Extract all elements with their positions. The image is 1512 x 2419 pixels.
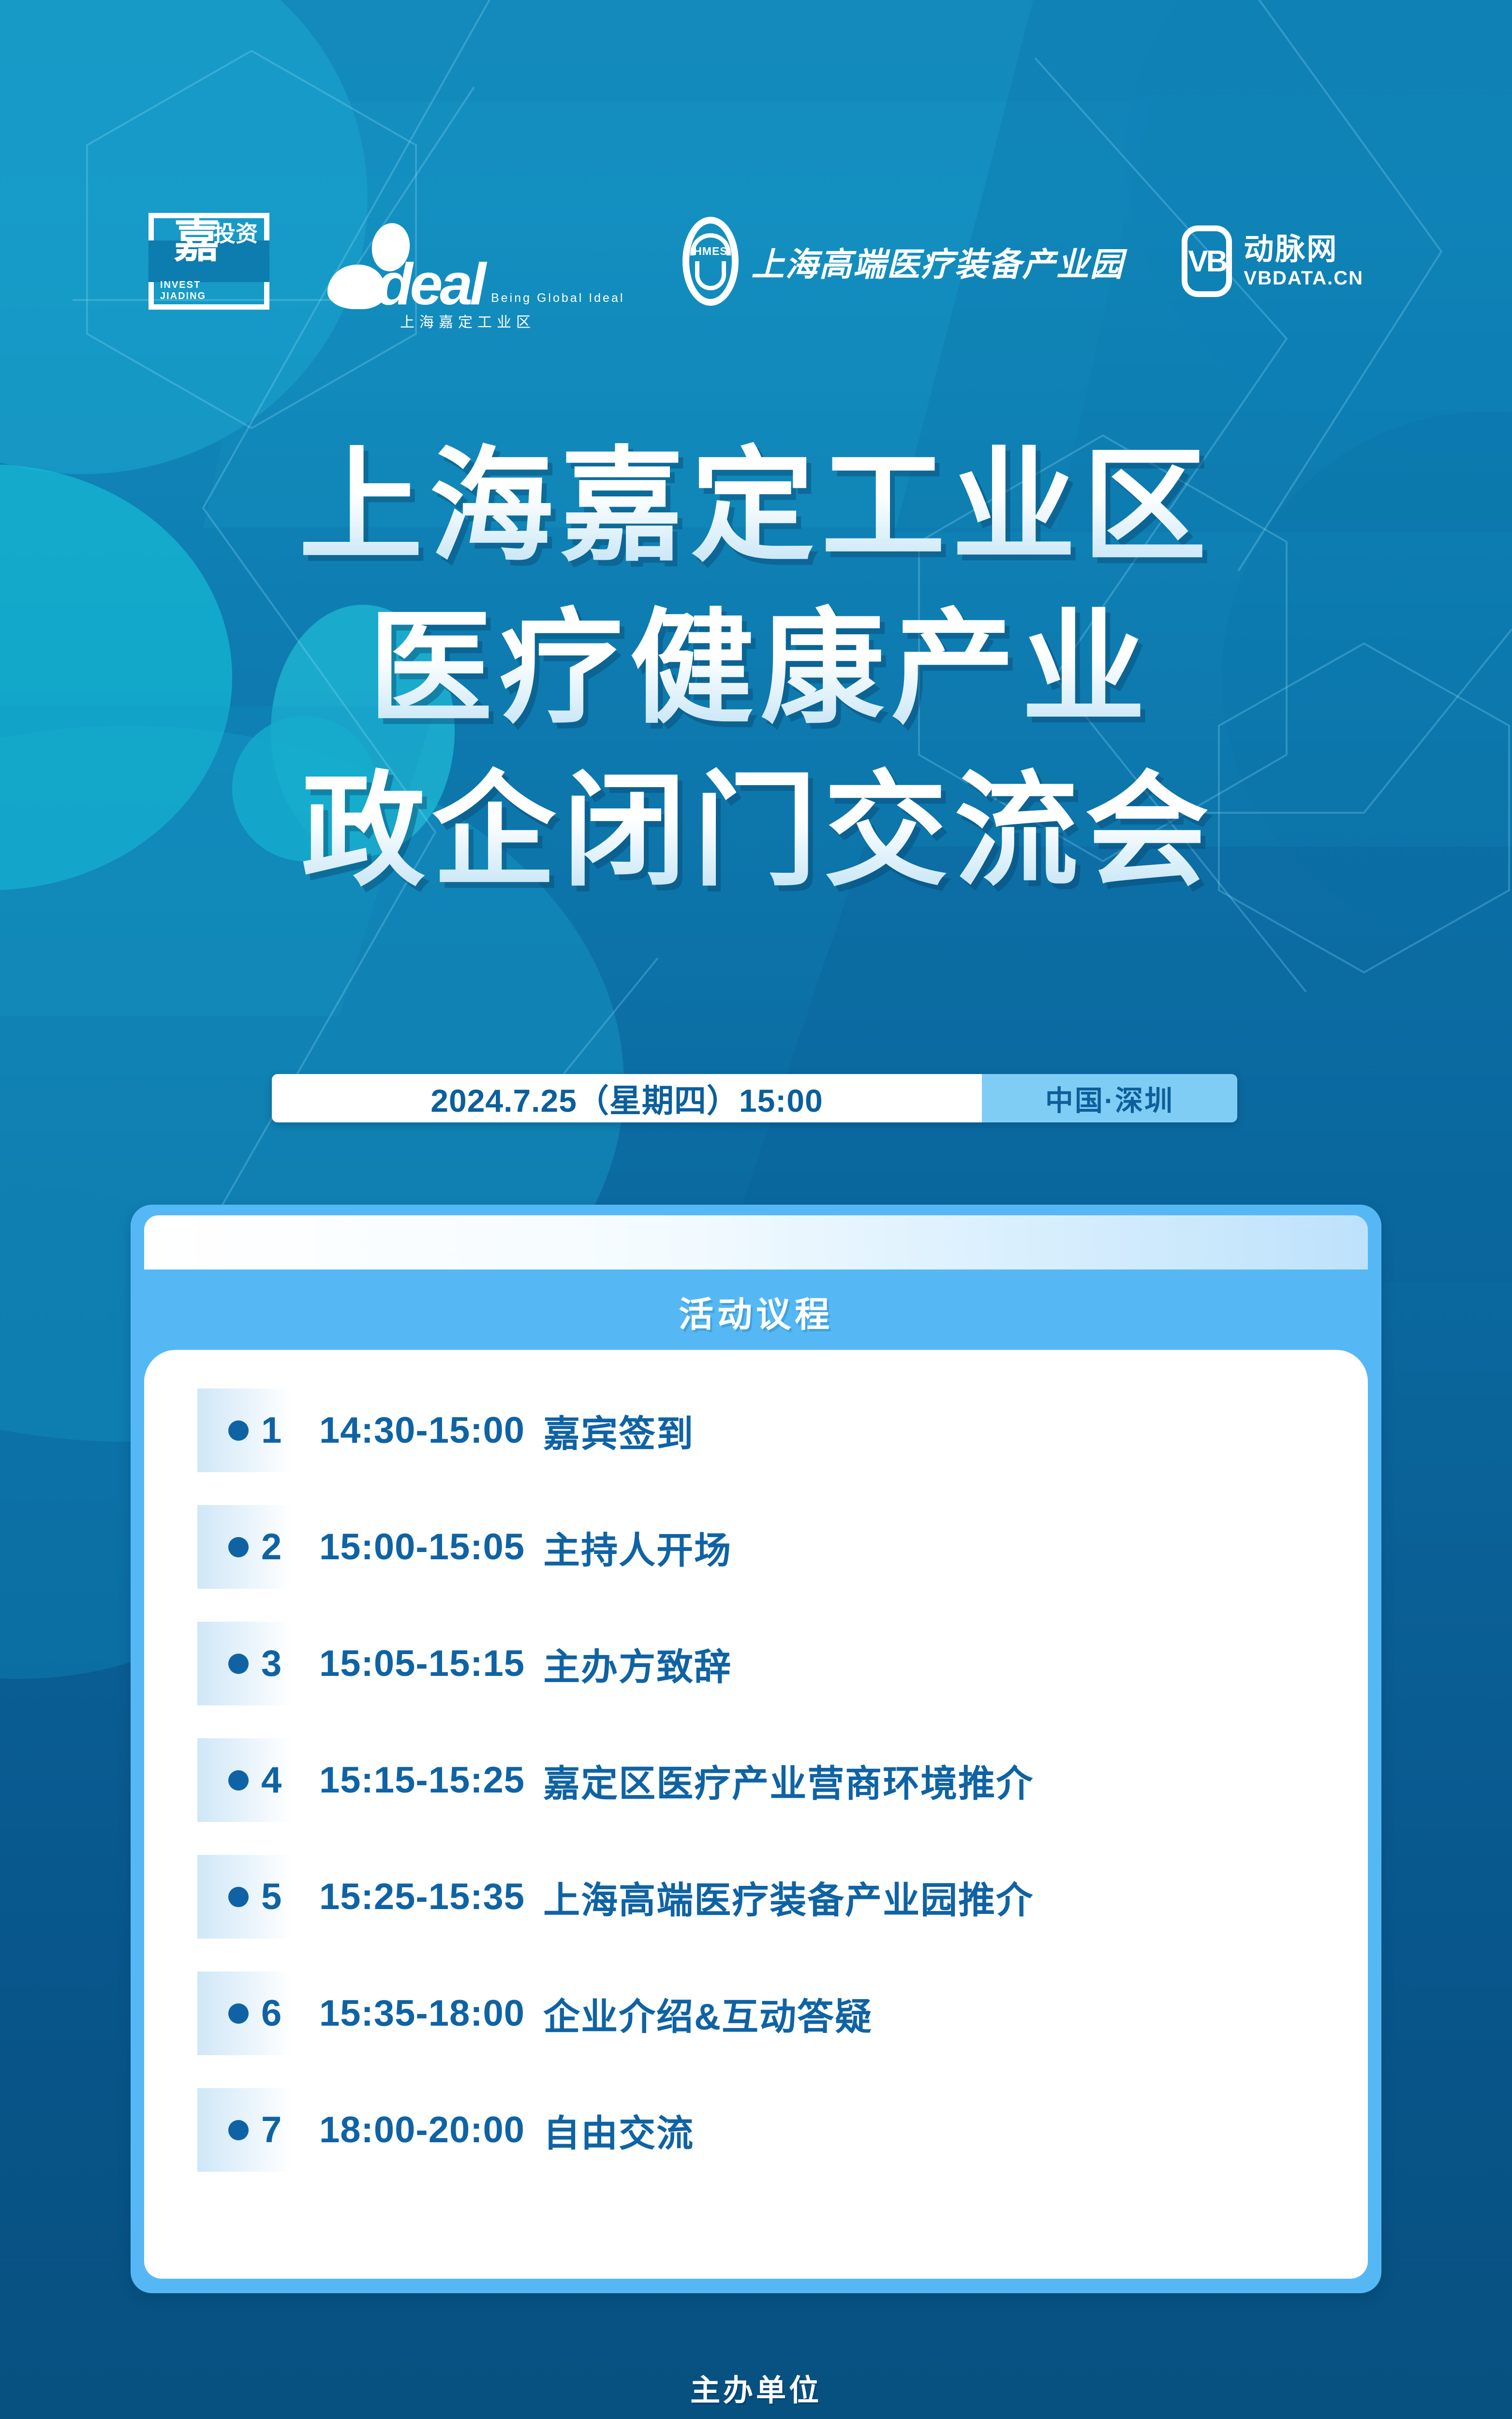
ideal-i-mark xyxy=(327,223,385,308)
agenda-row-title: 上海高端医疗装备产业园推介 xyxy=(543,1870,1034,1924)
logo-hmes-title: 上海高端医疗装备产业园 xyxy=(751,238,1124,285)
agenda-bullet-icon xyxy=(228,1887,249,1907)
agenda-row: 718:00-20:00自由交流 xyxy=(197,2072,1329,2188)
organizer-footer: 主办单位 上海市嘉定区投资促进服务中心 上海嘉定工业区 协办单位 上海市嘉定区经… xyxy=(0,2366,1512,2419)
host-label: 主办单位 xyxy=(0,2366,1512,2409)
agenda-row-time: 15:25-15:35 xyxy=(319,1876,525,1918)
agenda-row-time: 18:00-20:00 xyxy=(319,2109,525,2151)
agenda-row: 515:25-15:35上海高端医疗装备产业园推介 xyxy=(197,1838,1329,1955)
agenda-row-number: 5 xyxy=(261,1876,291,1918)
logo-invest-cn: 投资 xyxy=(213,223,258,245)
agenda-row-time: 14:30-15:00 xyxy=(319,1409,525,1451)
agenda-row: 615:35-18:00企业介绍&互动答疑 xyxy=(197,1955,1329,2072)
agenda-row: 315:05-15:15主办方致辞 xyxy=(197,1605,1329,1722)
logo-invest-jiading: 嘉 投资 INVEST JIADING xyxy=(148,213,269,310)
logo-ideal: deal Being Global Ideal 上海嘉定工业区 xyxy=(327,192,624,331)
agenda-row-number: 6 xyxy=(261,1992,291,2034)
agenda-header-label: 活动议程 xyxy=(679,1286,833,1337)
agenda-row-title: 主持人开场 xyxy=(543,1521,732,1574)
logo-hmes-park: HMES 上海高端医疗装备产业园 xyxy=(682,217,1124,306)
logo-invest-en: INVEST JIADING xyxy=(160,280,206,302)
agenda-row-title: 企业介绍&互动答疑 xyxy=(543,1987,873,2040)
poster-canvas: 嘉 投资 INVEST JIADING deal Being Global Id… xyxy=(0,0,1512,2419)
event-date-text: 2024.7.25（星期四）15:00 xyxy=(272,1074,982,1122)
agenda-card-header: 活动议程 xyxy=(131,1268,1381,1355)
agenda-bullet-icon xyxy=(228,1420,249,1441)
logo-vbdata-cn: 动脉网 xyxy=(1244,235,1364,265)
title-line-2: 医疗健康产业 xyxy=(0,588,1512,750)
agenda-bullet-icon xyxy=(228,1654,249,1674)
agenda-row-number: 2 xyxy=(261,1526,291,1568)
agenda-row-time: 15:35-18:00 xyxy=(319,1992,525,2034)
agenda-bullet-icon xyxy=(228,2120,249,2140)
agenda-row-title: 嘉定区医疗产业营商环境推介 xyxy=(543,1754,1034,1807)
vb-badge-icon: VB xyxy=(1182,225,1232,297)
poster-title: 上海嘉定工业区 医疗健康产业 政企闭门交流会 xyxy=(0,426,1512,912)
title-line-3: 政企闭门交流会 xyxy=(0,750,1512,912)
hmes-circle-mark: HMES xyxy=(682,217,739,306)
agenda-row: 415:15-15:25嘉定区医疗产业营商环境推介 xyxy=(197,1722,1329,1838)
agenda-bullet-icon xyxy=(228,1770,249,1791)
event-location-text: 中国·深圳 xyxy=(982,1074,1237,1122)
agenda-card-sheen xyxy=(144,1215,1368,1269)
agenda-row-title: 嘉宾签到 xyxy=(543,1404,694,1457)
agenda-bullet-icon xyxy=(228,1537,249,1557)
agenda-row-number: 1 xyxy=(261,1409,291,1451)
title-line-1: 上海嘉定工业区 xyxy=(0,426,1512,588)
agenda-row-title: 主办方致辞 xyxy=(543,1637,732,1690)
logo-jiading-calligraphy: 嘉 xyxy=(174,219,217,263)
agenda-card-body: 114:30-15:00嘉宾签到215:00-15:05主持人开场315:05-… xyxy=(144,1350,1368,2279)
agenda-row-number: 7 xyxy=(261,2109,291,2151)
agenda-row-title: 自由交流 xyxy=(543,2104,694,2157)
agenda-list: 114:30-15:00嘉宾签到215:00-15:05主持人开场315:05-… xyxy=(197,1372,1329,2188)
agenda-card: 活动议程 114:30-15:00嘉宾签到215:00-15:05主持人开场31… xyxy=(131,1205,1381,2293)
agenda-bullet-icon xyxy=(228,2003,249,2024)
logo-bar: 嘉 投资 INVEST JIADING deal Being Global Id… xyxy=(0,208,1512,314)
event-datetime-bar: 2024.7.25（星期四）15:00 中国·深圳 xyxy=(272,1074,1237,1122)
agenda-row: 215:00-15:05主持人开场 xyxy=(197,1489,1329,1605)
agenda-row-number: 3 xyxy=(261,1643,291,1685)
agenda-row-time: 15:05-15:15 xyxy=(319,1643,525,1685)
logo-ideal-tagline: Being Global Ideal xyxy=(491,291,624,305)
agenda-row-time: 15:00-15:05 xyxy=(319,1526,525,1568)
agenda-row-number: 4 xyxy=(261,1759,291,1801)
agenda-row: 114:30-15:00嘉宾签到 xyxy=(197,1372,1329,1489)
logo-vbdata-en: VBDATA.CN xyxy=(1244,269,1364,288)
logo-vbdata: VB 动脉网 VBDATA.CN xyxy=(1182,225,1364,297)
agenda-row-time: 15:15-15:25 xyxy=(319,1759,525,1801)
